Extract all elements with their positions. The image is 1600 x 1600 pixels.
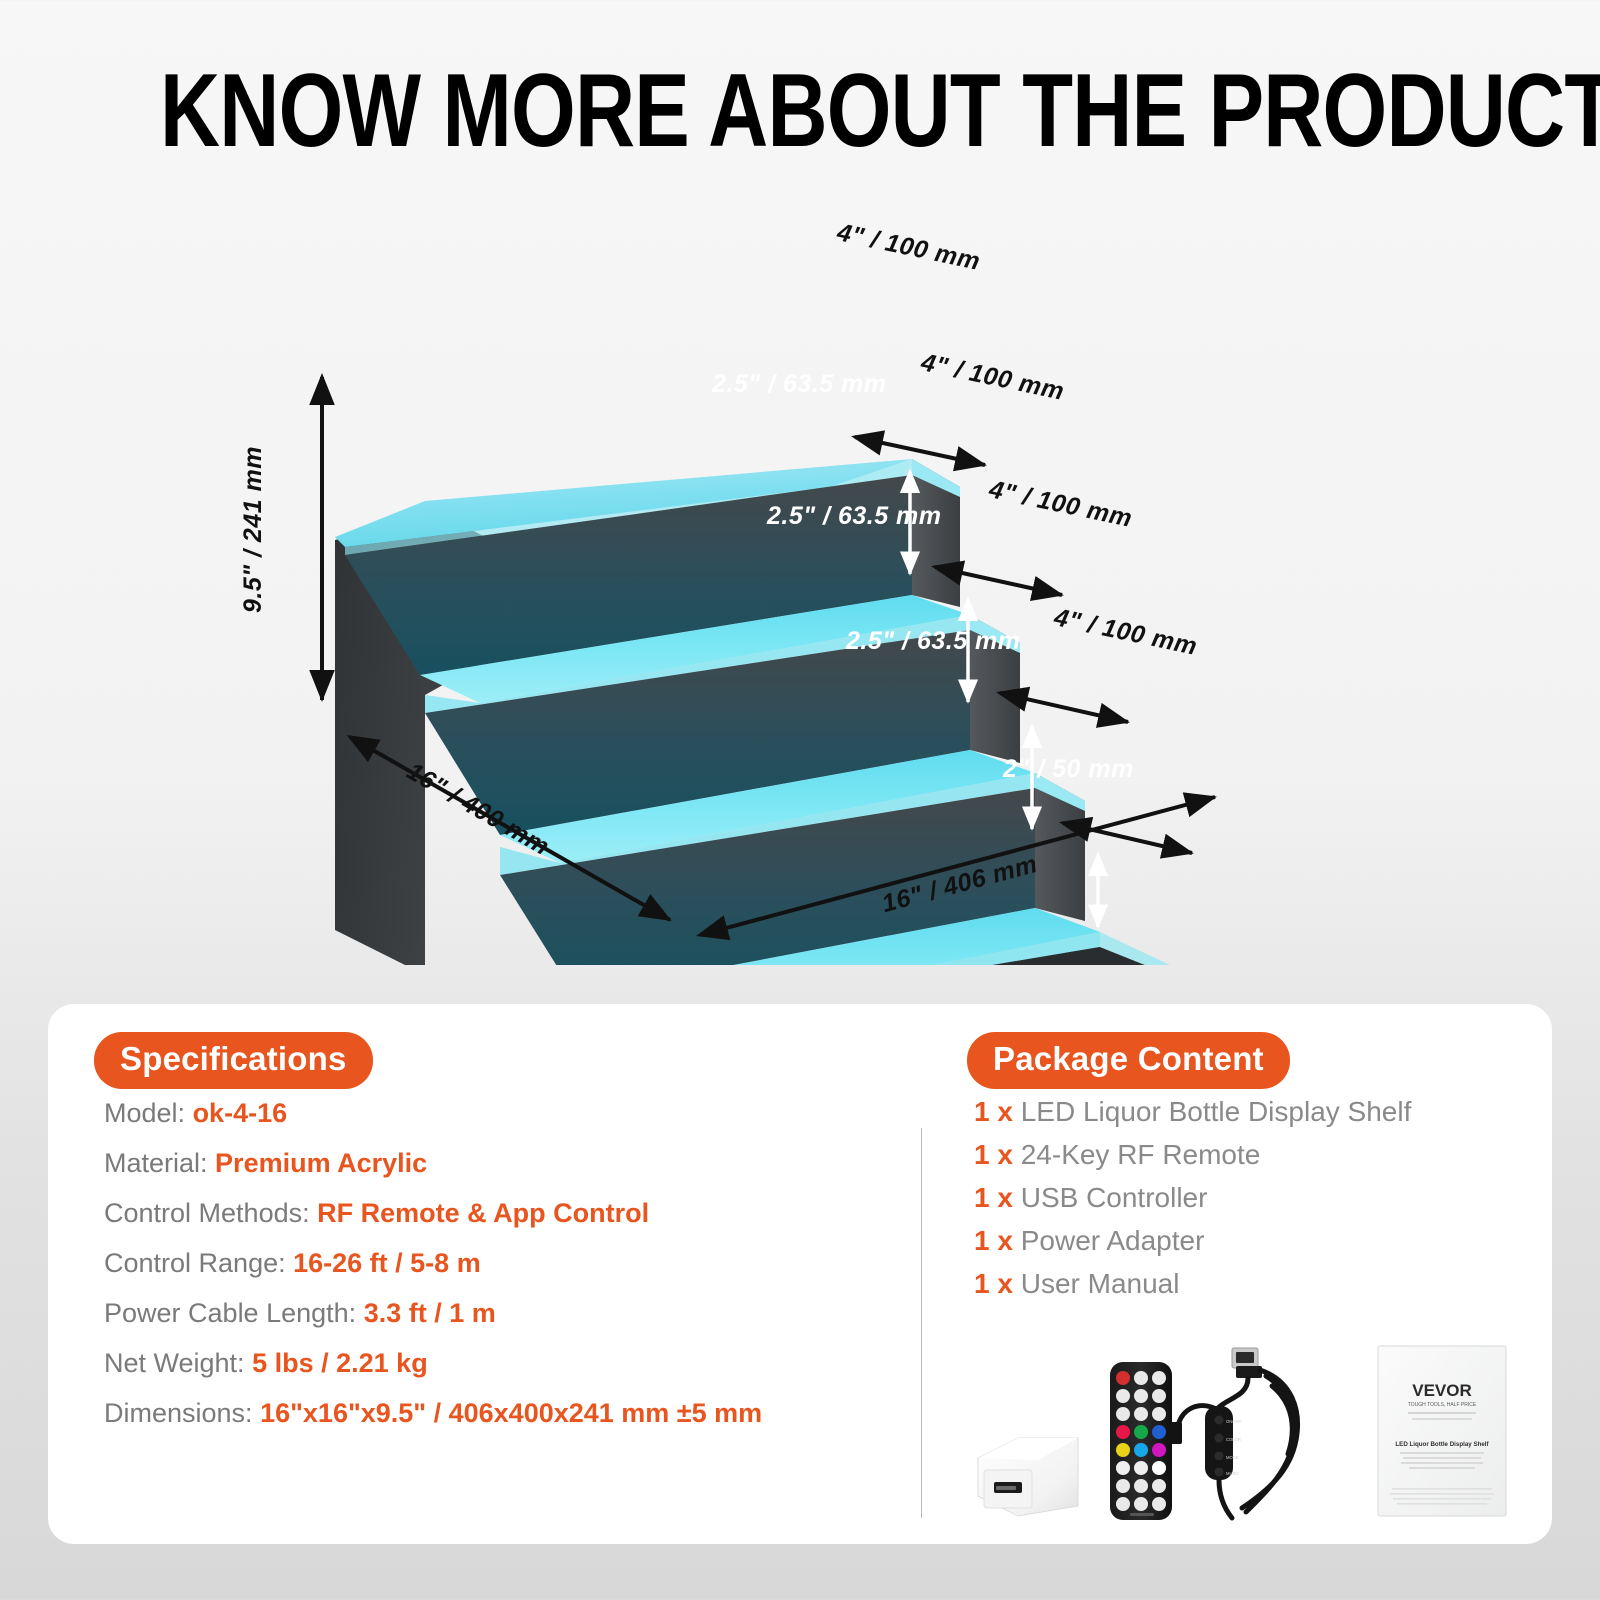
- spec-value: RF Remote & App Control: [317, 1198, 649, 1228]
- user-manual-photo: VEVOR TOUGH TOOLS, HALF PRICE LED Liquor…: [1378, 1346, 1506, 1516]
- dim-label-tier1-height: 2.5" / 63.5 mm: [712, 370, 887, 399]
- pkg-name: 24-Key RF Remote: [1021, 1139, 1261, 1170]
- pkg-name: LED Liquor Bottle Display Shelf: [1021, 1096, 1412, 1127]
- dim-label-tier3-height: 2.5" / 63.5 mm: [846, 627, 1021, 656]
- spec-label: Power Cable Length:: [104, 1298, 356, 1328]
- package-content-heading-wrap: Package Content: [967, 1032, 1290, 1089]
- spec-row-control-range: Control Range: 16-26 ft / 5-8 m: [104, 1250, 904, 1277]
- power-adapter-photo: [978, 1438, 1078, 1516]
- spec-value: 16"x16"x9.5" / 406x400x241 mm ±5 mm: [260, 1398, 762, 1428]
- package-content-heading: Package Content: [967, 1032, 1290, 1089]
- spec-value: 5 lbs / 2.21 kg: [252, 1348, 428, 1378]
- pkg-qty: 1 x: [974, 1096, 1013, 1127]
- dim-label-base-height: 2" / 50 mm: [1003, 755, 1134, 784]
- package-content-photos: ON/OFF COLOR MODE MUSIC VEVOR TOUGH TOOL…: [960, 1330, 1520, 1530]
- controller-btn-onoff: ON/OFF: [1226, 1419, 1242, 1424]
- spec-row-dimensions: Dimensions: 16"x16"x9.5" / 406x400x241 m…: [104, 1400, 904, 1427]
- pkg-name: Power Adapter: [1021, 1225, 1205, 1256]
- pkg-qty: 1 x: [974, 1139, 1013, 1170]
- pkg-name: User Manual: [1021, 1268, 1180, 1299]
- spec-value: ok-4-16: [193, 1098, 288, 1128]
- spec-label: Dimensions:: [104, 1398, 253, 1428]
- list-item: 1 x Power Adapter: [974, 1227, 1514, 1255]
- dim-label-total-height: 9.5" / 241 mm: [239, 446, 268, 613]
- package-content-list: 1 x LED Liquor Bottle Display Shelf 1 x …: [974, 1098, 1514, 1313]
- specifications-heading: Specifications: [94, 1032, 373, 1089]
- pkg-name: USB Controller: [1021, 1182, 1208, 1213]
- spec-label: Control Methods:: [104, 1198, 310, 1228]
- controller-btn-mode: MODE: [1226, 1455, 1239, 1460]
- spec-row-net-weight: Net Weight: 5 lbs / 2.21 kg: [104, 1350, 904, 1377]
- pkg-qty: 1 x: [974, 1268, 1013, 1299]
- dim-label-tier2-height: 2.5" / 63.5 mm: [767, 502, 942, 531]
- manual-brand: VEVOR: [1412, 1381, 1472, 1400]
- spec-value: Premium Acrylic: [215, 1148, 427, 1178]
- spec-label: Control Range:: [104, 1248, 286, 1278]
- specifications-heading-wrap: Specifications: [94, 1032, 373, 1089]
- manual-product: LED Liquor Bottle Display Shelf: [1395, 1441, 1489, 1448]
- list-item: 1 x 24-Key RF Remote: [974, 1141, 1514, 1169]
- pkg-qty: 1 x: [974, 1225, 1013, 1256]
- product-dimension-diagram: 4" / 100 mm 2.5" / 63.5 mm 4" / 100 mm 2…: [0, 175, 1600, 965]
- spec-row-power-cable-length: Power Cable Length: 3.3 ft / 1 m: [104, 1300, 904, 1327]
- spec-row-model: Model: ok-4-16: [104, 1100, 904, 1127]
- arrow-top-depth: [855, 437, 985, 465]
- led-connector-icon: [1166, 1422, 1182, 1444]
- list-item: 1 x LED Liquor Bottle Display Shelf: [974, 1098, 1514, 1126]
- controller-btn-music: MUSIC: [1226, 1471, 1240, 1476]
- page-title: KNOW MORE ABOUT THE PRODUCT: [160, 52, 1440, 171]
- spec-row-control-methods: Control Methods: RF Remote & App Control: [104, 1200, 904, 1227]
- list-item: 1 x USB Controller: [974, 1184, 1514, 1212]
- manual-tagline: TOUGH TOOLS, HALF PRICE: [1408, 1402, 1477, 1408]
- usb-controller-photo: ON/OFF COLOR MODE MUSIC: [1166, 1348, 1298, 1518]
- column-divider: [921, 1128, 922, 1518]
- spec-row-material: Material: Premium Acrylic: [104, 1150, 904, 1177]
- list-item: 1 x User Manual: [974, 1270, 1514, 1298]
- spec-value: 3.3 ft / 1 m: [364, 1298, 496, 1328]
- rf-remote-photo: [1110, 1362, 1172, 1520]
- pkg-qty: 1 x: [974, 1182, 1013, 1213]
- spec-label: Net Weight:: [104, 1348, 245, 1378]
- controller-btn-color: COLOR: [1226, 1437, 1241, 1442]
- specifications-list: Model: ok-4-16 Material: Premium Acrylic…: [104, 1100, 904, 1450]
- spec-value: 16-26 ft / 5-8 m: [293, 1248, 481, 1278]
- spec-label: Model:: [104, 1098, 185, 1128]
- spec-label: Material:: [104, 1148, 208, 1178]
